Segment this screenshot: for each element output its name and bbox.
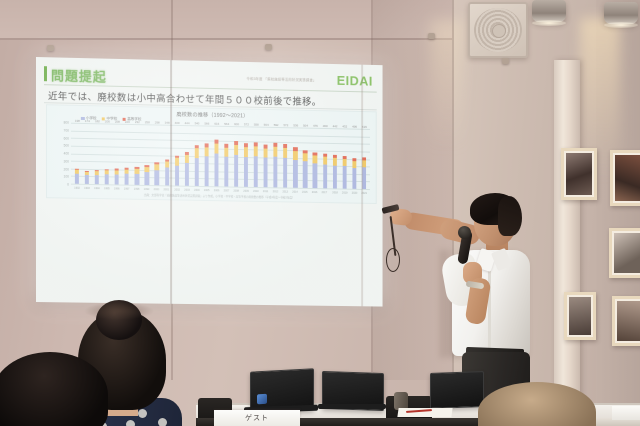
bar-column: 6162006	[211, 126, 221, 187]
bar-value-label: 536	[293, 123, 298, 127]
ceiling-vent-fan-icon	[468, 2, 528, 58]
slide-header: 問題提起 令和3年度 「廃校施設等活用状況実態調査」 EIDAI	[44, 65, 377, 91]
name-placard	[612, 406, 640, 420]
bar-column: 5362014	[290, 127, 300, 188]
x-axis-tick-label: 1997	[124, 186, 130, 190]
bar-segment-小学校	[155, 170, 159, 185]
stacked-bar: 208	[115, 169, 119, 185]
bar-segment-小学校	[165, 168, 169, 186]
x-axis-tick-label: 2012	[273, 189, 278, 193]
bar-segment-小学校	[244, 157, 248, 187]
bar-column: 2321998	[132, 124, 142, 185]
bar-segment-小学校	[85, 175, 89, 184]
bar-column: 4062020	[349, 129, 359, 189]
bar-value-label: 406	[352, 124, 357, 128]
bar-column: 4422018	[330, 128, 340, 188]
stacked-bar: 232	[135, 167, 139, 185]
laptop-base	[318, 404, 386, 409]
bar-column: 5722009	[241, 126, 251, 187]
stacked-bar: 174	[85, 171, 89, 184]
x-axis-tick-label: 1994	[94, 186, 100, 190]
bar-segment-中学校	[303, 153, 307, 162]
bar-segment-小学校	[95, 175, 99, 184]
y-axis-tick-label: 600	[64, 136, 69, 140]
stacked-bar: 444	[185, 152, 189, 186]
x-axis-tick-label: 1998	[134, 186, 140, 190]
stacked-bar: 400	[175, 155, 179, 185]
bar-segment-小学校	[185, 163, 189, 186]
stacked-bar: 182	[95, 170, 99, 184]
y-axis-tick-label: 400	[64, 152, 69, 156]
x-axis-tick-label: 2000	[154, 187, 160, 191]
x-axis-tick-label: 2005	[204, 188, 210, 192]
bar-column: 1821994	[92, 123, 102, 184]
spotlight-glow	[532, 20, 566, 26]
bar-segment-小学校	[175, 165, 179, 185]
stacked-bar: 220	[125, 168, 129, 185]
x-axis-tick-label: 2017	[322, 190, 327, 194]
bar-segment-中学校	[313, 155, 317, 163]
bar-segment-小学校	[254, 156, 258, 187]
bar-column: 2201997	[122, 124, 132, 185]
framed-picture	[564, 292, 596, 340]
stacked-bar: 442	[333, 155, 337, 188]
bar-value-label: 564	[224, 121, 229, 125]
chart-legend: 小学校中学校高等学校	[81, 116, 142, 122]
stacked-bar: 258	[145, 165, 149, 185]
eidai-logo: EIDAI	[337, 73, 373, 89]
bar-segment-中学校	[283, 148, 287, 158]
bar-segment-小学校	[293, 160, 297, 188]
bar-segment-中学校	[264, 148, 268, 157]
bar-column: 4442003	[182, 125, 192, 186]
x-axis-tick-label: 1996	[114, 186, 120, 190]
name-placard: ゲスト	[214, 410, 300, 426]
bar-segment-中学校	[175, 158, 179, 165]
framed-picture	[610, 150, 640, 206]
x-axis-tick-label: 2020	[351, 190, 356, 194]
bar-segment-小学校	[313, 163, 317, 188]
bar-segment-中学校	[194, 148, 198, 157]
shirt-placket	[488, 262, 491, 356]
bar-segment-小学校	[352, 168, 356, 189]
audience-member-hair-wisps	[84, 302, 154, 320]
bar-value-label: 182	[95, 119, 100, 123]
vent-hub	[492, 24, 506, 38]
presenter-hair-side	[498, 196, 522, 236]
y-axis-tick-label: 700	[64, 128, 69, 132]
bar-segment-中学校	[234, 145, 238, 155]
bar-segment-小学校	[125, 174, 129, 185]
bar-column: 5902010	[251, 126, 261, 187]
x-axis-tick-label: 2003	[184, 187, 190, 191]
bar-value-label: 432	[342, 124, 347, 128]
bar-value-label: 616	[214, 121, 219, 125]
bar-segment-小学校	[224, 157, 228, 187]
stacked-bar: 564	[264, 145, 268, 188]
bar-value-label: 572	[283, 123, 288, 127]
bar-value-label: 220	[125, 119, 130, 123]
bar-value-label: 348	[165, 120, 170, 124]
y-axis-tick-label: 200	[64, 167, 69, 171]
bar-column: 5662005	[202, 125, 212, 186]
laptop	[430, 371, 484, 409]
projected-slide: 問題提起 令和3年度 「廃校施設等活用状況実態調査」 EIDAI 近年では、廃校…	[36, 57, 383, 307]
bar-column: 1741993	[82, 123, 92, 184]
bar-column: 4602017	[320, 128, 330, 188]
x-axis-tick-label: 2016	[312, 190, 317, 194]
slide-title: 問題提起	[51, 65, 107, 85]
stacked-bar: 406	[352, 158, 356, 189]
bar-segment-小学校	[145, 172, 149, 185]
bar-value-label: 258	[145, 120, 150, 124]
x-axis-tick-label: 2008	[233, 188, 239, 192]
stacked-bar: 198	[75, 169, 79, 184]
x-axis-tick-label: 2001	[164, 187, 170, 191]
slide-header-meta: 令和3年度 「廃校施設等活用状況実態調査」	[246, 76, 316, 83]
bar-segment-小学校	[283, 157, 287, 187]
projection-screen: 問題提起 令和3年度 「廃校施設等活用状況実態調査」 EIDAI 近年では、廃校…	[36, 57, 383, 307]
screen-panel-seam	[170, 60, 172, 304]
presentation-room-photo: 問題提起 令和3年度 「廃校施設等活用状況実態調査」 EIDAI 近年では、廃校…	[0, 0, 640, 426]
legend-swatch-icon	[81, 117, 84, 121]
bar-segment-小学校	[274, 156, 278, 187]
pointer-strap-loop	[386, 248, 400, 272]
bar-value-label: 174	[85, 119, 90, 123]
bar-value-label: 540	[194, 121, 199, 125]
x-axis-tick-label: 2004	[194, 188, 200, 192]
bar-segment-小学校	[303, 161, 307, 187]
spotlight-glow	[604, 22, 638, 28]
x-axis-tick-label: 2009	[243, 188, 249, 192]
title-accent-bar	[44, 66, 47, 81]
bar-value-label: 600	[234, 122, 239, 126]
bar-segment-小学校	[214, 154, 218, 186]
bar-segment-中学校	[342, 159, 346, 166]
bar-value-label: 444	[185, 121, 190, 125]
stacked-bar: 460	[323, 154, 327, 189]
stacked-bar: 572	[283, 144, 287, 187]
bar-value-label: 400	[175, 120, 180, 124]
bar-column: 1981992	[72, 123, 82, 184]
x-axis-tick-label: 2002	[174, 187, 180, 191]
y-axis-tick-label: 100	[64, 175, 69, 179]
x-axis-tick-label: 2013	[283, 189, 288, 193]
bar-segment-小学校	[194, 158, 198, 186]
bar-column: 5922012	[271, 127, 281, 188]
bar-column: 6002008	[231, 126, 241, 187]
bar-value-label: 476	[313, 123, 318, 127]
bar-segment-中学校	[244, 147, 248, 157]
stacked-bar: 432	[342, 156, 346, 189]
stacked-bar: 504	[303, 150, 307, 188]
y-axis-tick-label: 300	[64, 159, 69, 163]
bar-segment-中学校	[254, 146, 258, 156]
bar-value-label: 460	[323, 124, 328, 128]
bar-segment-中学校	[333, 158, 337, 165]
bar-column: 5642007	[221, 126, 231, 187]
x-axis-tick-label: 2010	[253, 189, 259, 193]
stacked-bar: 540	[194, 145, 198, 186]
y-axis-tick-label: 800	[64, 121, 69, 125]
bar-column: 2081996	[112, 124, 122, 185]
bar-segment-小学校	[323, 164, 327, 188]
bar-segment-中学校	[224, 147, 228, 156]
screen-panel-seam	[361, 65, 363, 307]
bar-column: 4762016	[310, 128, 320, 188]
bar-column: 5042015	[300, 127, 310, 187]
bar-chart: 廃校数の推移（1992～2021） 小学校中学校高等学校 01002003004…	[46, 104, 377, 204]
bar-value-label: 590	[254, 122, 259, 126]
x-axis-tick-label: 1993	[84, 186, 90, 190]
bar-segment-小学校	[115, 174, 119, 184]
stacked-bar: 200	[105, 169, 109, 184]
bar-segment-小学校	[264, 158, 268, 188]
bar-column: 4322019	[339, 128, 349, 188]
bar-segment-中学校	[274, 146, 278, 156]
x-axis-tick-label: 1992	[74, 185, 80, 189]
bar-segment-小学校	[135, 173, 139, 184]
bar-value-label: 572	[244, 122, 249, 126]
bar-value-label: 232	[135, 120, 140, 124]
stacked-bar: 590	[254, 142, 258, 187]
x-axis-tick-label: 1995	[104, 186, 110, 190]
bar-column: 2982000	[152, 124, 162, 185]
bar-segment-小学校	[234, 155, 238, 187]
bar-value-label: 566	[204, 121, 209, 125]
bar-value-label: 592	[274, 122, 279, 126]
bar-column: 4002002	[172, 125, 182, 186]
bar-segment-中学校	[323, 156, 327, 164]
stacked-bar: 476	[313, 152, 317, 188]
bar-column: 2581999	[142, 124, 152, 185]
bar-segment-小学校	[333, 165, 337, 188]
x-axis-tick-label: 2006	[214, 188, 220, 192]
chart-bars: 1981992174199318219942001995208199622019…	[71, 123, 370, 189]
bar-segment-小学校	[75, 174, 79, 184]
bar-segment-中学校	[214, 144, 218, 154]
bar-segment-小学校	[342, 166, 346, 189]
bar-value-label: 298	[155, 120, 160, 124]
stacked-bar: 536	[293, 147, 297, 187]
y-axis-tick-label: 0	[67, 183, 69, 187]
x-axis-tick-label: 2019	[342, 190, 347, 194]
wall-mount-bracket	[265, 44, 272, 50]
y-axis-tick-label: 500	[64, 144, 69, 148]
stacked-bar: 566	[204, 143, 208, 186]
bar-column: 2001995	[102, 123, 112, 184]
x-axis-tick-label: 2014	[293, 189, 298, 193]
x-axis-tick-label: 1999	[144, 187, 150, 191]
x-axis-tick-label: 2011	[263, 189, 268, 193]
wall-mount-bracket	[502, 58, 509, 64]
bar-column: 5642011	[261, 127, 271, 188]
x-axis-tick-label: 2018	[332, 190, 337, 194]
wall-mount-bracket	[47, 45, 54, 51]
framed-picture	[612, 296, 640, 346]
structural-column	[554, 60, 580, 426]
bar-segment-小学校	[204, 156, 208, 186]
framed-picture	[561, 148, 597, 200]
placard-label: ゲスト	[245, 413, 269, 423]
stacked-bar: 592	[274, 143, 278, 188]
bar-value-label: 504	[303, 123, 308, 127]
bar-segment-小学校	[105, 174, 109, 184]
bar-segment-中学校	[293, 151, 297, 160]
chart-plot-area: 0100200300400500600700800 19819921741993…	[71, 123, 370, 189]
bar-segment-中学校	[185, 155, 189, 163]
framed-picture	[609, 228, 640, 278]
stacked-bar: 348	[165, 159, 169, 185]
bar-value-label: 564	[264, 122, 269, 126]
bar-value-label: 200	[105, 119, 110, 123]
x-axis-tick-label: 2015	[302, 190, 307, 194]
stacked-bar: 572	[244, 144, 248, 187]
bar-column: 5722013	[281, 127, 291, 188]
stacked-bar: 600	[234, 141, 238, 186]
bar-column: 5402004	[192, 125, 202, 186]
laptop-logo	[257, 394, 267, 405]
stacked-bar: 298	[155, 163, 159, 186]
bar-value-label: 442	[333, 124, 338, 128]
bar-value-label: 198	[75, 118, 80, 122]
ceiling-spotlight-icon	[532, 0, 566, 22]
x-axis-tick-label: 2007	[224, 188, 230, 192]
ceiling-spotlight-icon	[604, 2, 638, 24]
stacked-bar: 564	[224, 144, 228, 187]
wall-mount-bracket	[428, 33, 435, 39]
stacked-bar: 616	[214, 140, 218, 187]
bar-value-label: 208	[115, 119, 120, 123]
bar-segment-中学校	[204, 147, 208, 157]
